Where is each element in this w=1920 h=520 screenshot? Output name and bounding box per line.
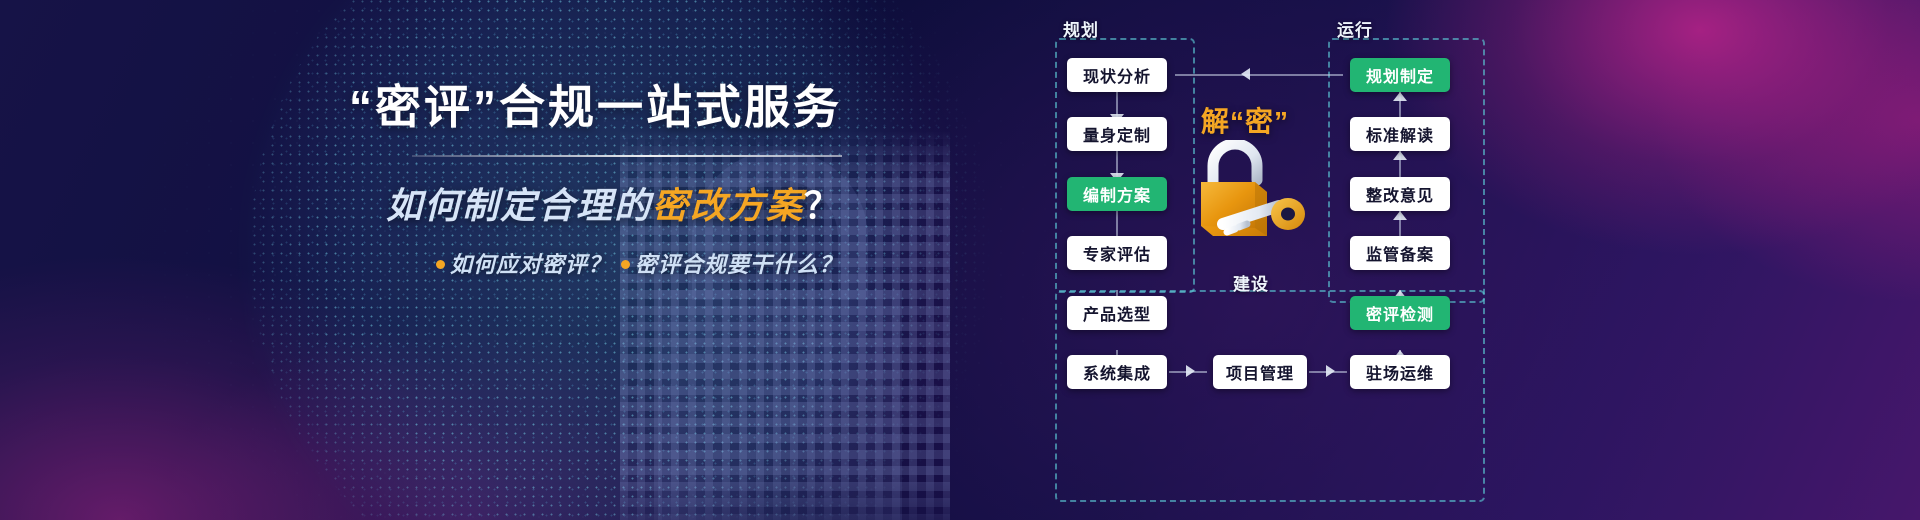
arrow-left-icon: [1241, 68, 1250, 80]
node-planning-0[interactable]: 现状分析: [1067, 58, 1167, 92]
arrow-right-icon: [1186, 365, 1195, 377]
node-planning-1[interactable]: 量身定制: [1067, 117, 1167, 151]
headline-block: “密评”合规一站式服务 如何制定合理的密改方案？ 如何应对密评？密评合规要干什么…: [0, 82, 860, 279]
node-operations-0[interactable]: 规划制定: [1350, 58, 1450, 92]
promo-banner: “密评”合规一站式服务 如何制定合理的密改方案？ 如何应对密评？密评合规要干什么…: [0, 0, 1920, 520]
bullet-dot-icon: [621, 260, 630, 269]
bullet-dot-icon: [436, 260, 445, 269]
arrow-right-icon: [1326, 365, 1335, 377]
bullet-item-0: 如何应对密评？: [450, 252, 611, 277]
arrow-up-icon: [1393, 92, 1407, 101]
node-operations-4[interactable]: 密评检测: [1350, 296, 1450, 330]
node-planning-3[interactable]: 专家评估: [1067, 236, 1167, 270]
process-flow-diagram: 规划 运行 建设 现状分析 量身定制 编制方案 专家评估 产品选型 系统集成 规…: [1045, 8, 1500, 513]
page-title: “密评”合规一站式服务: [0, 82, 842, 133]
node-operations-2[interactable]: 整改意见: [1350, 177, 1450, 211]
node-planning-5[interactable]: 系统集成: [1067, 355, 1167, 389]
group-label-planning: 规划: [1063, 16, 1099, 41]
subtitle-question-mark: ？: [804, 185, 842, 226]
subtitle-highlight: 密改方案: [652, 185, 804, 226]
subtitle: 如何制定合理的密改方案？: [0, 177, 842, 229]
node-operations-1[interactable]: 标准解读: [1350, 117, 1450, 151]
node-planning-2[interactable]: 编制方案: [1067, 177, 1167, 211]
padlock-with-key-icon: [1183, 140, 1313, 250]
node-project-management[interactable]: 项目管理: [1213, 355, 1307, 389]
node-operations-3[interactable]: 监管备案: [1350, 236, 1450, 270]
connector: [1175, 74, 1343, 76]
node-planning-4[interactable]: 产品选型: [1067, 296, 1167, 330]
arrow-up-icon: [1393, 151, 1407, 160]
group-label-construction: 建设: [1233, 270, 1269, 295]
group-label-operations: 运行: [1337, 16, 1373, 41]
node-operations-5[interactable]: 驻场运维: [1350, 355, 1450, 389]
arrow-up-icon: [1393, 211, 1407, 220]
bullet-item-1: 密评合规要干什么？: [635, 252, 842, 277]
subtitle-part-1: 如何制定合理的: [386, 185, 652, 226]
title-divider: [412, 155, 842, 157]
bullet-list: 如何应对密评？密评合规要干什么？: [0, 247, 842, 279]
center-label-decrypt: 解“密”: [1185, 100, 1305, 140]
